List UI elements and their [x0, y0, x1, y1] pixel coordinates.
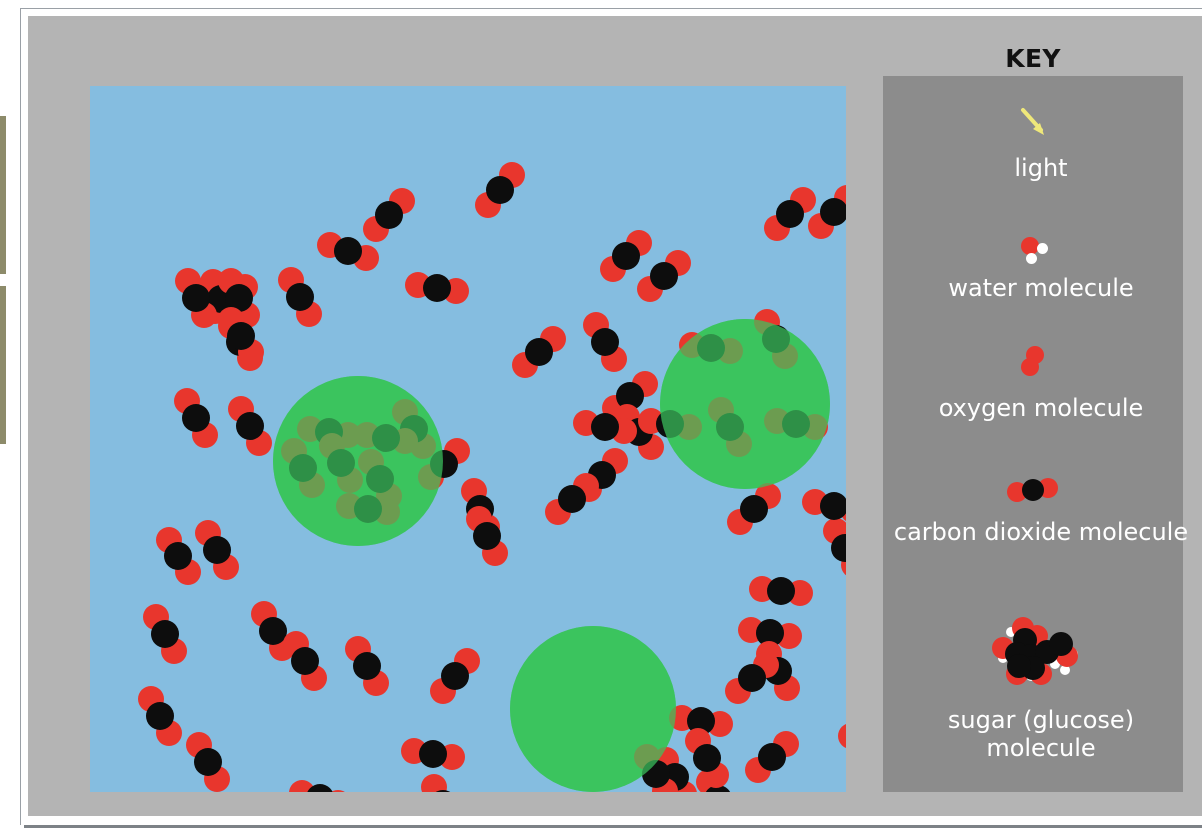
hydrogen-atom	[1026, 253, 1037, 264]
hydrogen-atom	[1037, 243, 1048, 254]
carbon-atom	[289, 454, 317, 482]
light-arrow-icon	[883, 98, 1183, 148]
water-molecule-icon	[883, 224, 1183, 274]
key-title: KEY	[883, 44, 1183, 73]
carbon-atom	[354, 495, 382, 523]
sugar-glucose-molecule-icon	[883, 606, 1183, 692]
carbon-atom	[656, 410, 684, 438]
carbon-dioxide-molecule-icon	[883, 466, 1183, 516]
carbon-atom	[1022, 479, 1044, 501]
carbon-atom	[1049, 632, 1073, 656]
carbon-atom	[642, 760, 670, 788]
carbon-atom	[372, 424, 400, 452]
sugar-glucose-molecule-label: sugar (glucose) molecule	[883, 706, 1199, 762]
offscreen-panel-sliver-top	[0, 116, 6, 274]
carbon-dioxide-molecule-label: carbon dioxide molecule	[883, 518, 1199, 546]
oxygen-molecule-label: oxygen molecule	[883, 394, 1199, 422]
oxygen-atom	[1021, 358, 1039, 376]
offscreen-panel-sliver-bottom	[0, 286, 6, 444]
carbon-atom	[762, 325, 790, 353]
key-panel: lightwater moleculeoxygen moleculecarbon…	[883, 76, 1183, 792]
carbon-atom	[327, 449, 355, 477]
carbon-atom	[782, 410, 810, 438]
simulation-field[interactable]	[90, 86, 846, 792]
window-body: KEY lightwater moleculeoxygen moleculeca…	[28, 16, 1202, 816]
carbon-atom	[1007, 654, 1031, 678]
carbon-atom	[716, 413, 744, 441]
light-arrow-svg	[883, 98, 1183, 148]
light-arrow-label: light	[883, 154, 1199, 182]
water-molecule-label: water molecule	[883, 274, 1199, 302]
chloroplast-interior-molecules	[90, 86, 846, 792]
carbon-atom	[366, 465, 394, 493]
screen-root: KEY lightwater moleculeoxygen moleculeca…	[0, 0, 1202, 840]
oxygen-molecule-icon	[883, 338, 1183, 388]
carbon-atom	[697, 334, 725, 362]
